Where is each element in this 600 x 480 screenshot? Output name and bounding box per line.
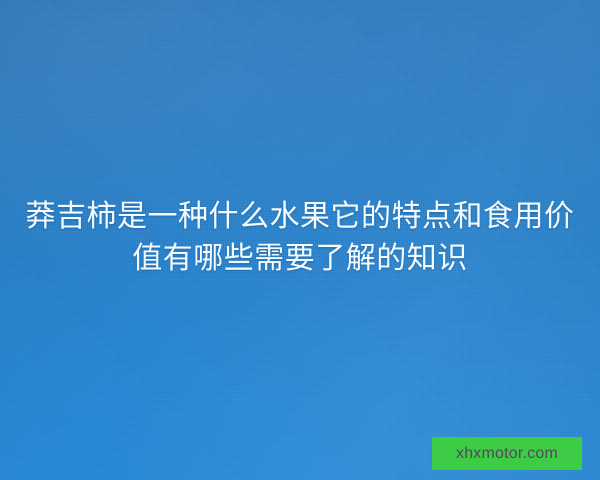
title-block: 莽吉柿是一种什么水果它的特点和食用价 值有哪些需要了解的知识 xyxy=(0,196,600,280)
watermark-url-text: xhxmotor.com xyxy=(456,446,558,462)
title-line-1: 莽吉柿是一种什么水果它的特点和食用价 xyxy=(22,196,578,238)
image-card: 莽吉柿是一种什么水果它的特点和食用价 值有哪些需要了解的知识 xhxmotor.… xyxy=(0,0,600,480)
title-line-2: 值有哪些需要了解的知识 xyxy=(22,238,578,280)
watermark-badge: xhxmotor.com xyxy=(432,437,582,470)
